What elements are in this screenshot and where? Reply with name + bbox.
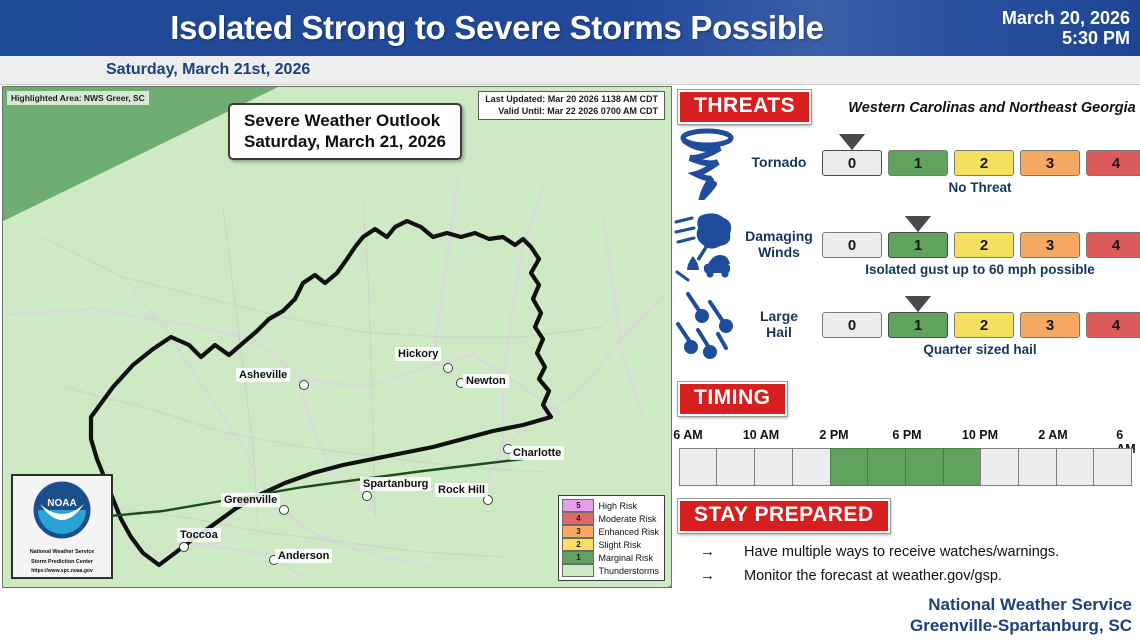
prepared-item: →Have multiple ways to receive watches/w… <box>700 543 1059 560</box>
timing-cell-2[interactable] <box>754 448 793 486</box>
threat-label-line2: Winds <box>740 244 818 260</box>
legend-swatch: 3 <box>562 525 594 538</box>
city-dot-icon <box>179 542 189 552</box>
map-last-updated: Last Updated: Mar 20 2026 1138 AM CDT <box>485 94 658 106</box>
timing-label: 2 PM <box>819 428 848 442</box>
threat-note: No Threat <box>822 180 1138 195</box>
city-label: Newton <box>463 374 509 388</box>
threat-level-marker <box>841 136 863 150</box>
map-title-line1: Severe Weather Outlook <box>244 111 446 132</box>
prepared-item-text: Monitor the forecast at weather.gov/gsp. <box>744 568 1002 584</box>
page-header: Isolated Strong to Severe Storms Possibl… <box>0 0 1140 56</box>
map-validity-note: Last Updated: Mar 20 2026 1138 AM CDT Va… <box>478 91 665 120</box>
arrow-right-icon: → <box>700 543 744 560</box>
legend-swatch: 1 <box>562 551 594 564</box>
prepared-item-text: Have multiple ways to receive watches/wa… <box>744 544 1059 560</box>
scale-box-1[interactable]: 1 <box>888 150 948 176</box>
large-hail-icon <box>674 290 740 362</box>
legend-row: 3Enhanced Risk <box>562 525 659 538</box>
noaa-spc-logo-box: NOAA National Weather Service Storm Pred… <box>11 474 113 579</box>
legend-label: Thunderstorms <box>598 566 659 576</box>
timing-cell-10[interactable] <box>1056 448 1095 486</box>
threats-region-label: Western Carolinas and Northeast Georgia <box>842 100 1140 116</box>
threat-level-marker <box>907 218 929 232</box>
timing-cell-1[interactable] <box>716 448 755 486</box>
noaa-url: https://www.spc.noaa.gov <box>16 568 108 574</box>
map-valid-until: Valid Until: Mar 22 2026 0700 AM CDT <box>485 106 658 118</box>
timing-cell-7[interactable] <box>943 448 982 486</box>
city-dot-icon <box>299 380 309 390</box>
page-title: Isolated Strong to Severe Storms Possibl… <box>0 9 934 47</box>
scale-box-4[interactable]: 4 <box>1086 150 1140 176</box>
office-footer: National Weather Service Greenville-Spar… <box>910 595 1132 636</box>
threat-level-marker <box>907 298 929 312</box>
scale-box-0[interactable]: 0 <box>822 150 882 176</box>
scale-box-4[interactable]: 4 <box>1086 312 1140 338</box>
timing-cell-11[interactable] <box>1093 448 1132 486</box>
city-label: Asheville <box>236 368 290 382</box>
damaging-winds-icon <box>674 210 740 282</box>
map-risk-legend: 5High Risk4Moderate Risk3Enhanced Risk2S… <box>558 495 665 581</box>
legend-label: Marginal Risk <box>598 553 653 563</box>
timing-cell-6[interactable] <box>905 448 944 486</box>
noaa-logo-icon: NOAA <box>24 480 100 542</box>
svg-text:NOAA: NOAA <box>47 498 76 509</box>
threat-scale: 012345 <box>822 232 1140 258</box>
scale-box-3[interactable]: 3 <box>1020 232 1080 258</box>
stay-prepared-heading: STAY PREPARED <box>678 499 890 533</box>
legend-row: 5High Risk <box>562 499 659 512</box>
legend-label: Slight Risk <box>598 540 641 550</box>
threat-label: Tornado <box>740 154 818 170</box>
map-highlighted-area-note: Highlighted Area: NWS Greer, SC <box>7 91 149 105</box>
timing-cell-9[interactable] <box>1018 448 1057 486</box>
tornado-icon <box>674 128 740 200</box>
timing-cell-4[interactable] <box>830 448 869 486</box>
timing-label: 6 AM <box>673 428 702 442</box>
timing-heading: TIMING <box>678 382 787 416</box>
timing-axis-labels: 6 AM10 AM2 PM6 PM10 PM2 AM6 AM <box>672 428 1140 444</box>
noaa-agency-line2: Storm Prediction Center <box>16 559 108 567</box>
issuance-time: 5:30 PM <box>934 28 1130 48</box>
map-title-box: Severe Weather Outlook Saturday, March 2… <box>228 103 462 160</box>
timing-track[interactable] <box>680 448 1132 484</box>
city-label: Hickory <box>395 347 441 361</box>
threat-label-line1: Tornado <box>740 154 818 170</box>
timing-cell-3[interactable] <box>792 448 831 486</box>
legend-label: High Risk <box>598 501 637 511</box>
legend-row: Thunderstorms <box>562 564 659 577</box>
tornado-icon <box>674 128 740 200</box>
city-label: Greenville <box>221 493 280 507</box>
threat-label-line2: Hail <box>740 324 818 340</box>
city-label: Rock Hill <box>435 483 488 497</box>
threat-row-large: LargeHail012345Quarter sized hail <box>672 290 1140 364</box>
issuance-date: March 20, 2026 <box>934 8 1130 28</box>
large-hail-icon <box>674 290 740 362</box>
damaging-winds-icon <box>674 210 740 282</box>
threat-label: DamagingWinds <box>740 228 818 260</box>
scale-box-4[interactable]: 4 <box>1086 232 1140 258</box>
city-dot-icon <box>362 491 372 501</box>
timing-cell-8[interactable] <box>980 448 1019 486</box>
legend-label: Enhanced Risk <box>598 527 659 537</box>
threat-label-line1: Large <box>740 308 818 324</box>
city-dot-icon <box>279 505 289 515</box>
scale-box-0[interactable]: 0 <box>822 232 882 258</box>
city-label: Charlotte <box>510 446 564 460</box>
threat-row-tornado: Tornado012345No Threat <box>672 128 1140 202</box>
severe-weather-outlook-map[interactable]: Highlighted Area: NWS Greer, SC Last Upd… <box>2 86 672 588</box>
legend-row: 2Slight Risk <box>562 538 659 551</box>
scale-box-3[interactable]: 3 <box>1020 312 1080 338</box>
city-label: Toccoa <box>177 528 221 542</box>
map-title-line2: Saturday, March 21, 2026 <box>244 132 446 153</box>
issuance-stamp: March 20, 2026 5:30 PM <box>934 8 1140 48</box>
prepared-heading-wrap: STAY PREPARED <box>678 499 890 533</box>
timing-cell-5[interactable] <box>867 448 906 486</box>
timing-label: 6 PM <box>892 428 921 442</box>
office-name: National Weather Service <box>910 595 1132 615</box>
timing-heading-wrap: TIMING <box>678 382 787 416</box>
scale-box-2[interactable]: 2 <box>954 150 1014 176</box>
subtitle-bar: Saturday, March 21st, 2026 <box>0 56 1140 85</box>
threat-scale: 012345 <box>822 150 1140 176</box>
city-dot-icon <box>443 363 453 373</box>
legend-row: 4Moderate Risk <box>562 512 659 525</box>
timing-label: 10 PM <box>962 428 998 442</box>
threat-note: Quarter sized hail <box>822 342 1138 357</box>
forecast-day-subtitle: Saturday, March 21st, 2026 <box>106 61 310 79</box>
threats-heading-wrap: THREATS <box>678 90 811 124</box>
scale-box-0[interactable]: 0 <box>822 312 882 338</box>
legend-swatch <box>562 564 594 577</box>
legend-row: 1Marginal Risk <box>562 551 659 564</box>
threat-label: LargeHail <box>740 308 818 340</box>
prepared-item: →Monitor the forecast at weather.gov/gsp… <box>700 567 1002 584</box>
threat-label-line1: Damaging <box>740 228 818 244</box>
scale-box-3[interactable]: 3 <box>1020 150 1080 176</box>
timing-cell-0[interactable] <box>679 448 718 486</box>
threat-row-damaging: DamagingWinds012345Isolated gust up to 6… <box>672 210 1140 284</box>
legend-swatch: 4 <box>562 512 594 525</box>
arrow-right-icon: → <box>700 567 744 584</box>
timing-label: 10 AM <box>743 428 779 442</box>
timing-label: 2 AM <box>1038 428 1067 442</box>
scale-box-2[interactable]: 2 <box>954 312 1014 338</box>
city-label: Anderson <box>275 549 332 563</box>
right-info-panel: THREATS Western Carolinas and Northeast … <box>672 86 1140 586</box>
legend-swatch: 5 <box>562 499 594 512</box>
threat-scale: 012345 <box>822 312 1140 338</box>
legend-label: Moderate Risk <box>598 514 656 524</box>
threat-note: Isolated gust up to 60 mph possible <box>822 262 1138 277</box>
office-location: Greenville-Spartanburg, SC <box>910 616 1132 636</box>
legend-swatch: 2 <box>562 538 594 551</box>
scale-box-1[interactable]: 1 <box>888 312 948 338</box>
scale-box-1[interactable]: 1 <box>888 232 948 258</box>
noaa-agency-line1: National Weather Service <box>16 549 108 557</box>
city-label: Spartanburg <box>360 477 431 491</box>
threats-heading: THREATS <box>678 90 811 124</box>
scale-box-2[interactable]: 2 <box>954 232 1014 258</box>
